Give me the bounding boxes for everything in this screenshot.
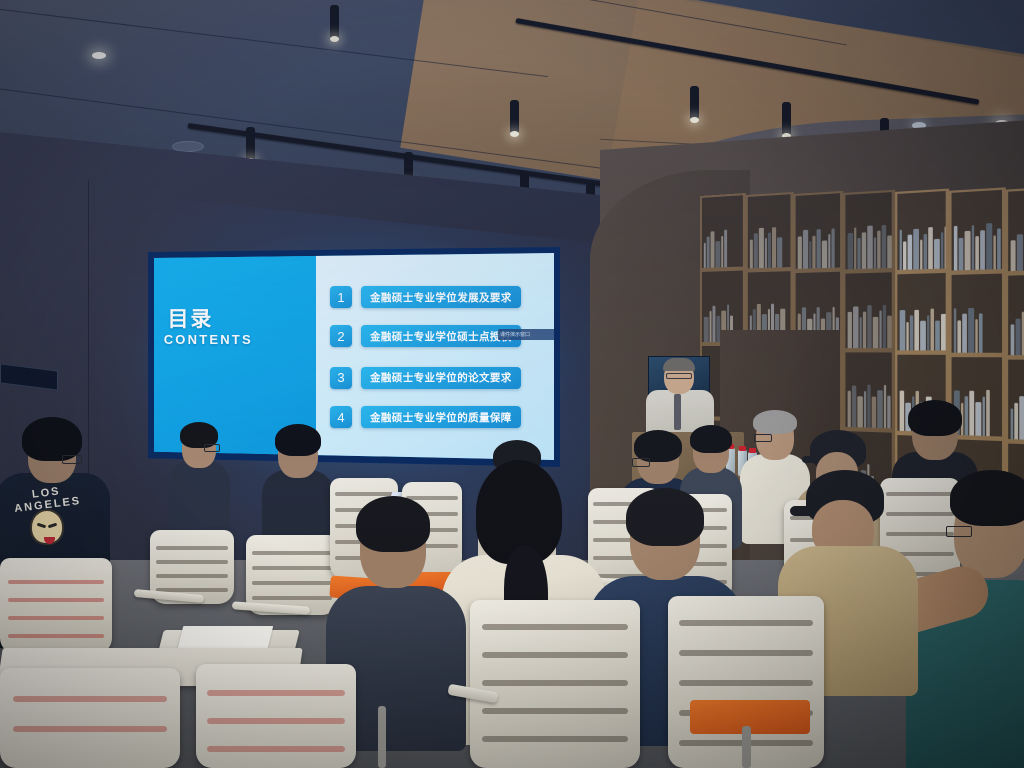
book bbox=[798, 236, 802, 269]
book bbox=[993, 235, 995, 269]
chair-slat bbox=[482, 708, 628, 714]
book bbox=[910, 315, 913, 350]
chair-slat bbox=[207, 718, 345, 724]
chair-slat bbox=[252, 596, 331, 600]
hair bbox=[908, 400, 962, 436]
bookshelf-cell bbox=[895, 271, 949, 353]
agenda-item-4: 4 金融硕士专业学位的质量保障 bbox=[330, 406, 521, 428]
book bbox=[972, 225, 974, 270]
book bbox=[927, 315, 929, 351]
slide-right-panel bbox=[316, 253, 554, 460]
book bbox=[954, 308, 956, 352]
book-row bbox=[750, 223, 789, 268]
book-row bbox=[848, 223, 890, 270]
agenda-label: 金融硕士专业学位硕士点授权 bbox=[361, 325, 521, 347]
bookshelf-cell bbox=[843, 270, 895, 350]
track-spotlight bbox=[690, 86, 699, 120]
chair-slat bbox=[482, 680, 628, 686]
chair-slat bbox=[13, 726, 168, 732]
recessed-downlight bbox=[92, 52, 106, 59]
agenda-number: 2 bbox=[330, 325, 352, 347]
chair-slat bbox=[679, 680, 813, 686]
book bbox=[986, 390, 990, 436]
book bbox=[944, 226, 948, 268]
book bbox=[864, 391, 866, 428]
chair-slat bbox=[207, 746, 345, 752]
chair-slat bbox=[482, 652, 628, 658]
jacket-print: LOS ANGELES bbox=[4, 487, 90, 557]
chair-slat bbox=[13, 696, 168, 702]
book bbox=[877, 390, 883, 428]
book bbox=[920, 240, 922, 270]
book bbox=[831, 228, 834, 268]
book bbox=[712, 306, 715, 342]
chair-slat bbox=[156, 546, 228, 550]
book bbox=[854, 227, 856, 269]
book bbox=[959, 237, 964, 270]
bear-face-icon bbox=[30, 509, 64, 545]
book bbox=[860, 317, 862, 348]
agenda-item-1: 1 金融硕士专业学位发展及要求 bbox=[330, 286, 521, 308]
hair bbox=[950, 470, 1024, 526]
chair-slat bbox=[156, 560, 228, 564]
track-spotlight bbox=[330, 5, 339, 39]
bookshelf-cell bbox=[746, 192, 794, 271]
book bbox=[883, 305, 886, 349]
bookshelf-cell bbox=[700, 193, 746, 270]
book-row bbox=[900, 222, 944, 270]
book bbox=[957, 320, 961, 353]
book bbox=[986, 223, 992, 269]
book bbox=[1011, 240, 1016, 271]
hair bbox=[275, 424, 321, 456]
track-spotlight bbox=[246, 127, 255, 161]
chair-slat bbox=[156, 574, 228, 578]
book bbox=[968, 308, 974, 353]
bookshelf-cell bbox=[1006, 272, 1024, 358]
book bbox=[983, 396, 985, 436]
slide-title-en: CONTENTS bbox=[164, 332, 217, 347]
book bbox=[862, 232, 866, 269]
glasses-icon bbox=[754, 434, 772, 442]
book bbox=[928, 227, 933, 269]
book bbox=[803, 230, 808, 268]
book bbox=[931, 309, 934, 351]
book bbox=[715, 241, 720, 267]
book-row bbox=[798, 223, 838, 269]
chair-slat bbox=[8, 598, 104, 602]
bookshelf-cell bbox=[949, 271, 1005, 355]
bear-mouth-icon bbox=[44, 537, 55, 544]
book bbox=[867, 305, 871, 348]
slide-title-cn: 目录 bbox=[164, 309, 217, 330]
chair-backrest bbox=[196, 664, 356, 768]
book bbox=[710, 311, 712, 342]
agenda-item-2: 2 金融硕士专业学位硕士点授权 bbox=[330, 325, 521, 347]
book bbox=[863, 311, 866, 348]
bookshelf-cell bbox=[794, 191, 844, 271]
book bbox=[887, 396, 890, 428]
book bbox=[873, 316, 879, 348]
chair-leg bbox=[378, 706, 386, 768]
chair-slat bbox=[679, 620, 813, 626]
book bbox=[900, 310, 906, 350]
book-row bbox=[848, 382, 890, 428]
book bbox=[887, 316, 891, 348]
book bbox=[848, 233, 853, 269]
book bbox=[887, 236, 893, 269]
book bbox=[822, 240, 827, 268]
book bbox=[848, 391, 851, 427]
book bbox=[954, 226, 958, 270]
book bbox=[920, 321, 926, 351]
chair-slat bbox=[679, 650, 813, 656]
chair[interactable] bbox=[196, 664, 356, 768]
glasses-icon bbox=[666, 373, 692, 379]
book bbox=[997, 229, 1001, 269]
book bbox=[809, 241, 811, 268]
glasses-icon bbox=[62, 455, 82, 464]
book bbox=[900, 230, 902, 270]
book bbox=[857, 396, 862, 427]
book bbox=[975, 236, 979, 270]
book bbox=[817, 229, 821, 268]
book bbox=[872, 396, 876, 428]
book bbox=[1017, 234, 1023, 271]
hair bbox=[690, 425, 732, 453]
book bbox=[772, 227, 776, 268]
book bbox=[874, 237, 876, 269]
agenda-number: 3 bbox=[330, 367, 352, 389]
bookshelf-cell bbox=[1006, 186, 1024, 273]
hair bbox=[753, 410, 797, 434]
book bbox=[724, 230, 727, 267]
chair-backrest bbox=[0, 668, 180, 768]
book bbox=[711, 231, 715, 267]
chair[interactable] bbox=[470, 600, 640, 768]
book bbox=[867, 385, 870, 428]
chair-slat bbox=[8, 634, 104, 638]
book bbox=[1019, 396, 1024, 439]
book bbox=[1016, 318, 1021, 355]
book bbox=[906, 322, 908, 351]
agenda-label: 金融硕士专业学位发展及要求 bbox=[361, 286, 521, 308]
lecture-hall-photo: 目录 CONTENTS 1 金融硕士专业学位发展及要求 2 金融硕士专业学位硕士… bbox=[0, 0, 1024, 768]
book bbox=[777, 237, 782, 267]
book bbox=[941, 232, 943, 268]
book bbox=[914, 309, 919, 350]
book bbox=[707, 237, 710, 268]
book bbox=[962, 314, 967, 353]
track-spotlight bbox=[782, 102, 791, 136]
book-row bbox=[1011, 221, 1024, 271]
chair-slat bbox=[482, 736, 628, 742]
chair-backrest bbox=[470, 600, 640, 768]
chair-slat bbox=[252, 551, 331, 555]
slide-title-block: 目录 CONTENTS bbox=[164, 309, 217, 347]
chair-slat bbox=[8, 616, 104, 620]
book bbox=[848, 312, 852, 348]
agenda-item-3: 3 金融硕士专业学位的论文要求 bbox=[330, 367, 521, 389]
chair-slat bbox=[8, 580, 104, 584]
book bbox=[1011, 325, 1015, 356]
book bbox=[828, 234, 830, 268]
agenda-number: 1 bbox=[330, 286, 352, 308]
book-row bbox=[1011, 391, 1024, 440]
book bbox=[1011, 409, 1013, 440]
book bbox=[867, 226, 873, 269]
book bbox=[852, 385, 856, 427]
book-row bbox=[1011, 307, 1024, 356]
chair-leg bbox=[742, 726, 751, 768]
book-row bbox=[704, 224, 741, 268]
book bbox=[754, 234, 758, 269]
chair-slat bbox=[252, 566, 331, 570]
book bbox=[704, 243, 706, 268]
book-row bbox=[848, 303, 890, 348]
book bbox=[882, 225, 886, 269]
book bbox=[979, 313, 983, 353]
agenda-label: 金融硕士专业学位的质量保障 bbox=[361, 406, 521, 428]
book bbox=[879, 311, 881, 349]
book bbox=[765, 238, 767, 267]
audience-member bbox=[168, 420, 230, 540]
glasses-icon bbox=[204, 444, 220, 452]
chair[interactable] bbox=[0, 668, 180, 768]
chair-slat bbox=[207, 690, 345, 696]
book bbox=[877, 231, 880, 269]
slide-toast-overlay: 课件演示窗口 bbox=[498, 329, 554, 340]
book bbox=[750, 239, 753, 268]
book bbox=[759, 228, 764, 268]
hair bbox=[626, 488, 704, 546]
book bbox=[908, 235, 913, 270]
chair-slat bbox=[482, 624, 628, 630]
book bbox=[935, 320, 940, 350]
book bbox=[1014, 402, 1018, 439]
hair bbox=[356, 496, 430, 552]
glasses-icon bbox=[946, 526, 972, 537]
chair-backrest bbox=[0, 558, 112, 654]
bookshelf-cell bbox=[895, 189, 949, 273]
book bbox=[941, 314, 947, 350]
book bbox=[980, 230, 985, 270]
book bbox=[913, 228, 919, 269]
book bbox=[924, 234, 927, 270]
track-spotlight bbox=[510, 100, 519, 134]
book bbox=[975, 319, 977, 352]
bookshelf-cell bbox=[843, 350, 895, 430]
book bbox=[903, 241, 906, 270]
chair-slat bbox=[252, 581, 331, 585]
book bbox=[704, 317, 709, 342]
book-row bbox=[954, 222, 1000, 271]
agenda-label: 金融硕士专业学位的论文要求 bbox=[361, 367, 521, 389]
bookshelf-cell bbox=[843, 190, 895, 272]
book bbox=[965, 231, 971, 270]
bookshelf-cell bbox=[949, 187, 1005, 273]
book-row bbox=[900, 304, 944, 350]
chair[interactable] bbox=[0, 558, 112, 654]
book-row bbox=[954, 305, 1000, 352]
glasses-icon bbox=[632, 458, 650, 467]
bookshelf-cell bbox=[1006, 357, 1024, 443]
presenter-hair bbox=[663, 358, 695, 371]
book bbox=[721, 236, 723, 267]
book bbox=[853, 306, 858, 348]
book bbox=[812, 235, 815, 268]
book bbox=[768, 233, 771, 268]
book bbox=[857, 238, 860, 269]
book bbox=[934, 239, 940, 269]
book bbox=[884, 385, 886, 429]
